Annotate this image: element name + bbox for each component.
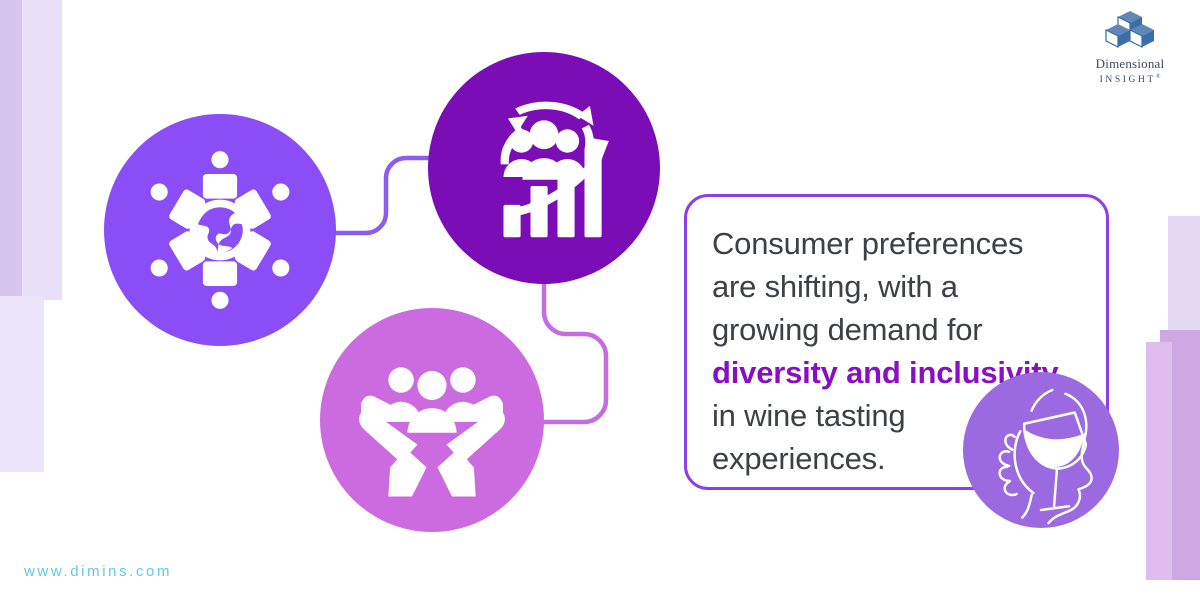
isometric-cubes-icon (1099, 10, 1161, 56)
callout-line-4: in wine tasting (712, 398, 905, 433)
node-growth-chart[interactable] (428, 52, 660, 284)
logo-subwordmark-text: INSIGHT (1100, 75, 1156, 85)
callout-line-3: growing demand for (712, 312, 982, 347)
callout-line-1: Consumer preferences (712, 226, 1023, 261)
callout-line-2: are shifting, with a (712, 269, 958, 304)
person-drinking-wine-icon (966, 375, 1116, 525)
callout-line-5: experiences. (712, 441, 885, 476)
node-hands-people[interactable] (320, 308, 544, 532)
people-growth-chart-icon (454, 78, 634, 258)
logo-wordmark: Dimensional (1074, 57, 1186, 71)
logo-subwordmark: INSIGHT® (1074, 71, 1186, 86)
infographic-canvas: Consumer preferences are shifting, with … (0, 0, 1200, 600)
globe-people-network-icon (125, 135, 315, 325)
node-globe-people[interactable] (104, 114, 336, 346)
node-wine-tasting[interactable] (963, 372, 1119, 528)
brand-logo: Dimensional INSIGHT® (1074, 10, 1186, 86)
registered-mark: ® (1156, 74, 1161, 80)
footer-website-url[interactable]: www.dimins.com (24, 563, 172, 580)
hands-holding-people-icon (341, 329, 523, 511)
